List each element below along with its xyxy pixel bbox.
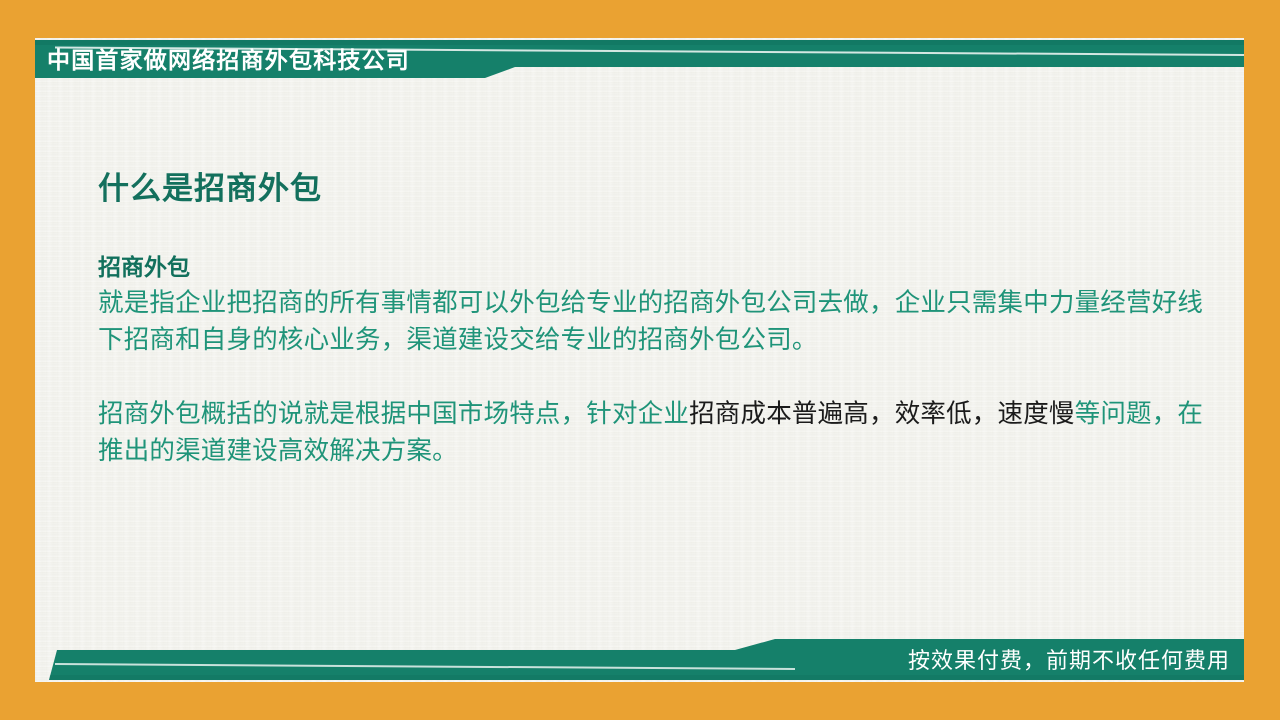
body-paragraph-2: 招商外包概括的说就是根据中国市场特点，针对企业招商成本普遍高，效率低，速度慢等问… (98, 396, 1223, 470)
paragraph-2-highlight: 招商成本普遍高，效率低，速度慢 (689, 400, 1075, 428)
slide-canvas: 中国首家做网络招商外包科技公司 什么是招商外包 招商外包 就是指企业把招商的所有… (0, 0, 1280, 720)
paragraph-2-segment-1: 招商外包概括的说就是根据中国市场特点，针对企业 (98, 400, 689, 428)
lead-label: 招商外包 (98, 252, 1223, 282)
page-title: 什么是招商外包 (98, 168, 1223, 210)
header-banner-title: 中国首家做网络招商外包科技公司 (47, 43, 517, 77)
slide-content: 什么是招商外包 招商外包 就是指企业把招商的所有事情都可以外包给专业的招商外包公… (98, 168, 1223, 470)
body-paragraph-1: 就是指企业把招商的所有事情都可以外包给专业的招商外包公司去做，企业只需集中力量经… (98, 285, 1223, 359)
footer-tagline: 按效果付费，前期不收任何费用 (908, 646, 1230, 676)
